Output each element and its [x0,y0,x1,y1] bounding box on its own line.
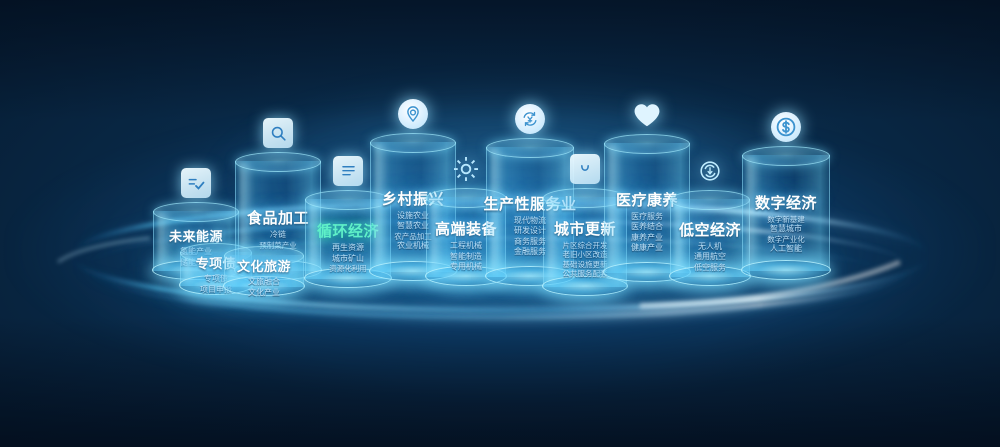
dollar-coin-icon [771,112,801,142]
coin-recycle-icon [695,156,725,186]
pillar-sub-item: 数字新基建 [711,215,861,225]
cylinder-top [235,152,321,172]
pillar-digital-economy[interactable]: 数字经济数字新基建智慧城市数字产业化人工智能 [742,146,830,280]
bag-icon [570,154,600,184]
pillar-labels: 数字经济数字新基建智慧城市数字产业化人工智能 [711,192,861,255]
location-icon [398,99,428,129]
cylinder-top [486,138,574,158]
recycle-yuan-icon [515,104,545,134]
infographic-scene: 未来能源氢能产业储能产业专项债专项债项目申报食品加工冷链预制菜产业文化旅游文旅融… [0,0,1000,447]
cylinder-top [604,134,690,154]
gear-icon [451,154,481,184]
pillar-sub-item: 人工智能 [711,244,861,255]
pillar-sub-item: 智慧城市 [711,224,861,235]
pillar-title: 数字经济 [711,192,861,213]
cylinder-base [741,260,831,280]
heart-icon [632,100,662,130]
pillar-sub-list: 数字新基建智慧城市数字产业化人工智能 [711,215,861,255]
top-fade [0,0,1000,120]
cylinder-top [742,146,830,166]
search-icon [263,118,293,148]
pillar-sub-item: 文化产业 [189,288,339,299]
cylinder-top [370,133,456,153]
checklist-icon [181,168,211,198]
document-icon [333,156,363,186]
bottom-fade [0,317,1000,447]
pillar-sub-item: 数字产业化 [711,235,861,245]
